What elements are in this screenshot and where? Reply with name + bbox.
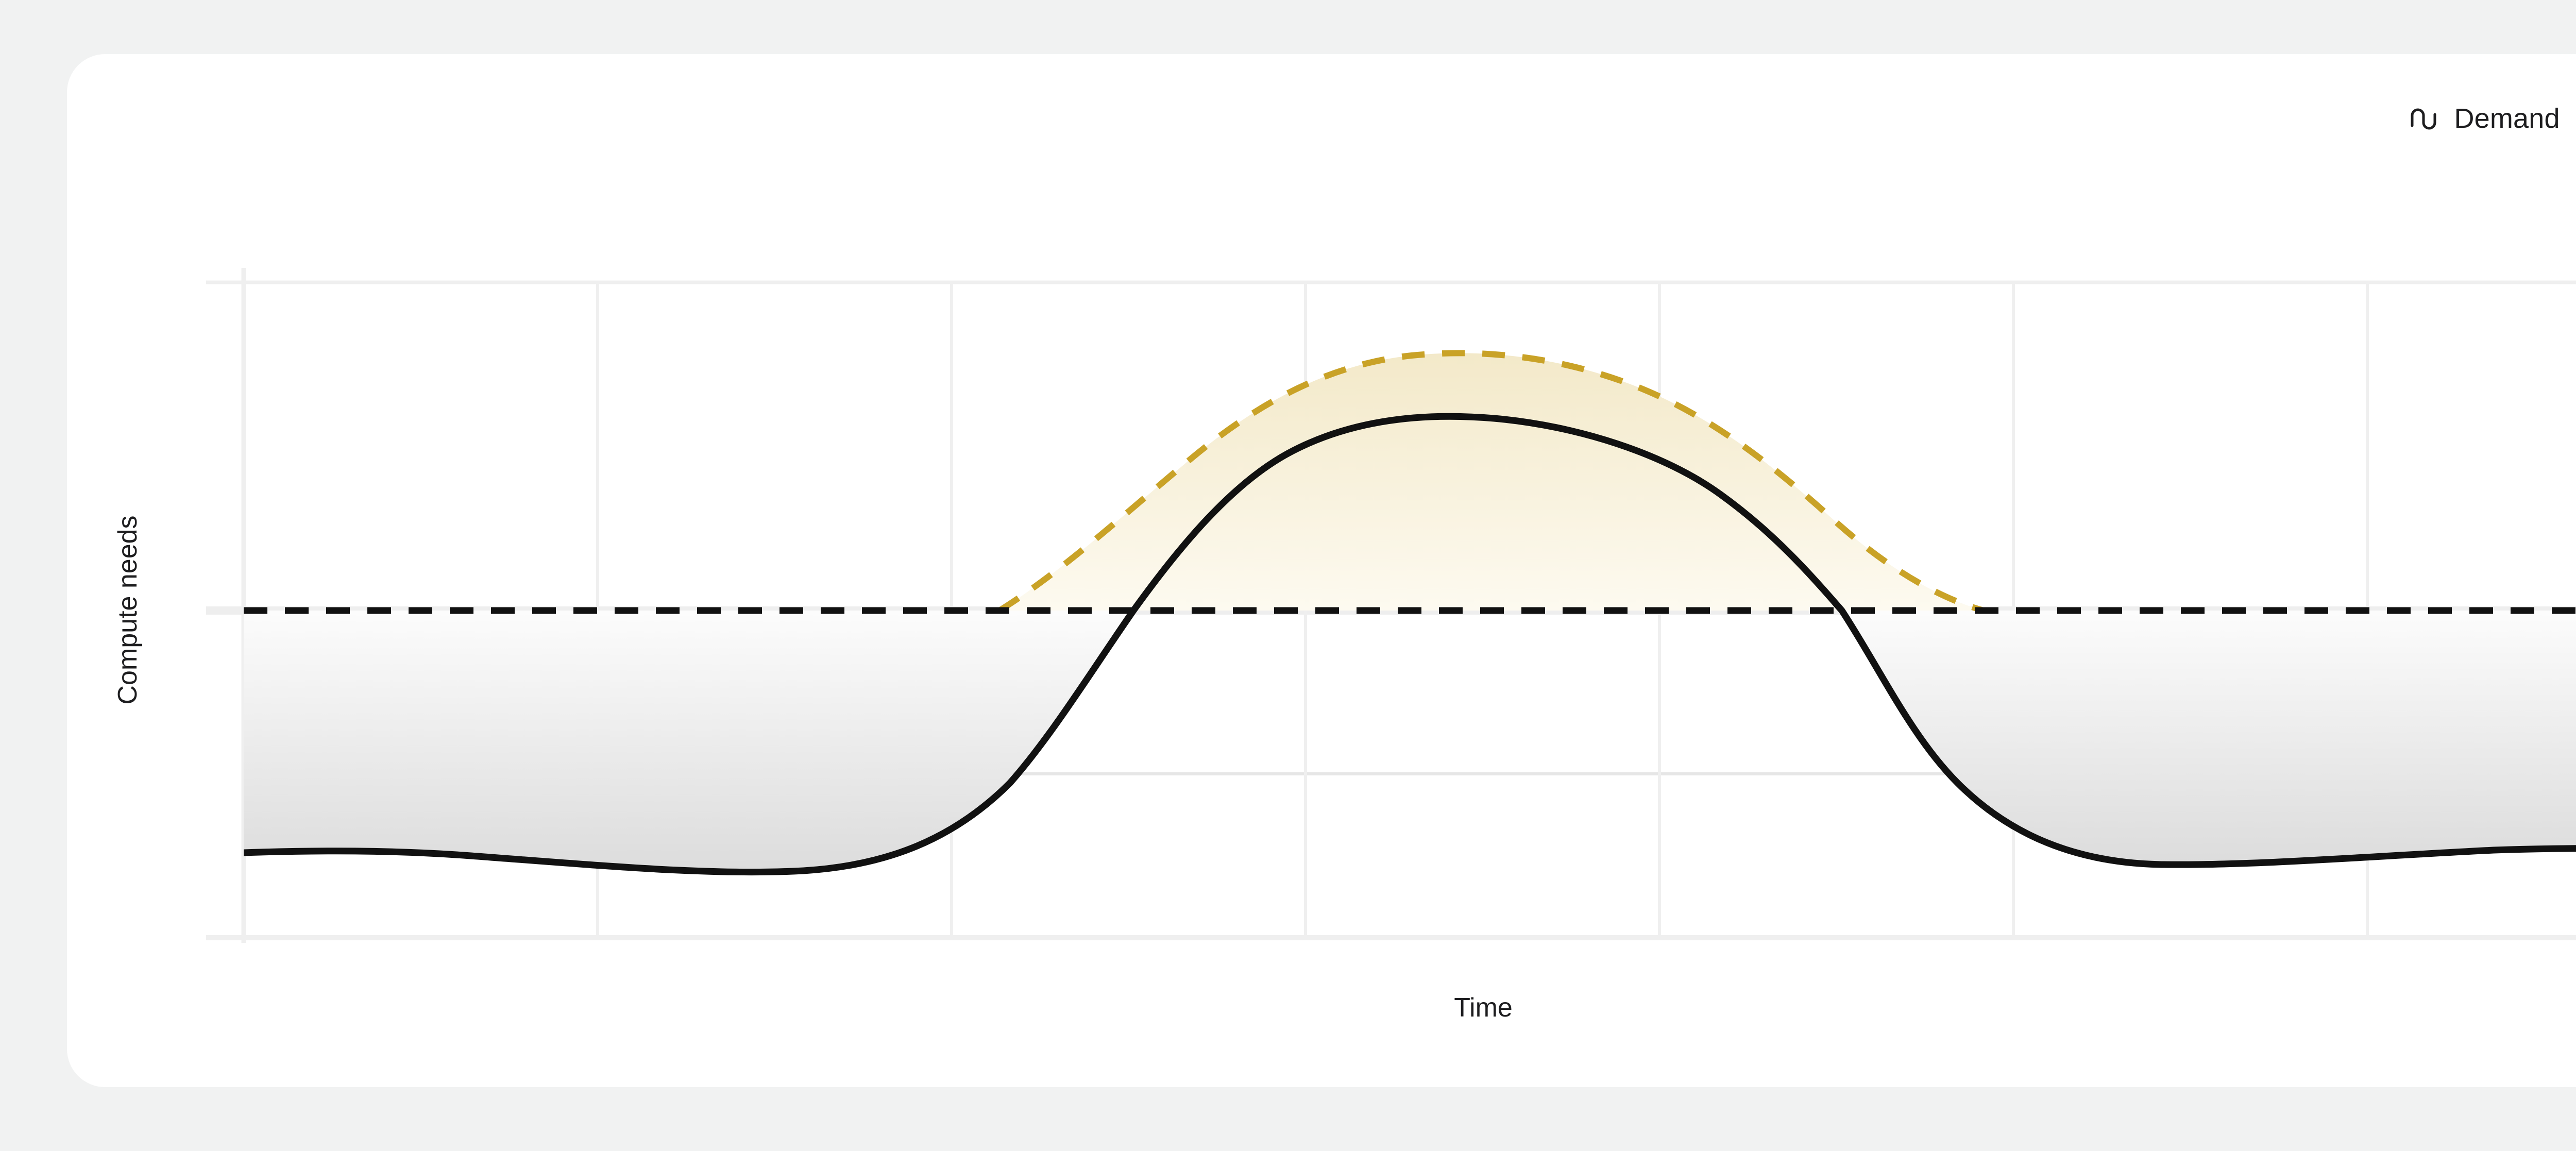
legend-item-demand[interactable]: Demand	[2409, 95, 2560, 142]
chart-legend: Demand SBM	[2409, 95, 2576, 142]
x-axis-title: Time	[1454, 994, 1513, 1021]
y-axis-title: Compute needs	[114, 515, 141, 704]
legend-label-demand: Demand	[2454, 105, 2560, 132]
wave-icon	[2409, 102, 2442, 135]
chart-page: Demand SBM	[0, 0, 2576, 1151]
chart-card	[67, 54, 2576, 1087]
